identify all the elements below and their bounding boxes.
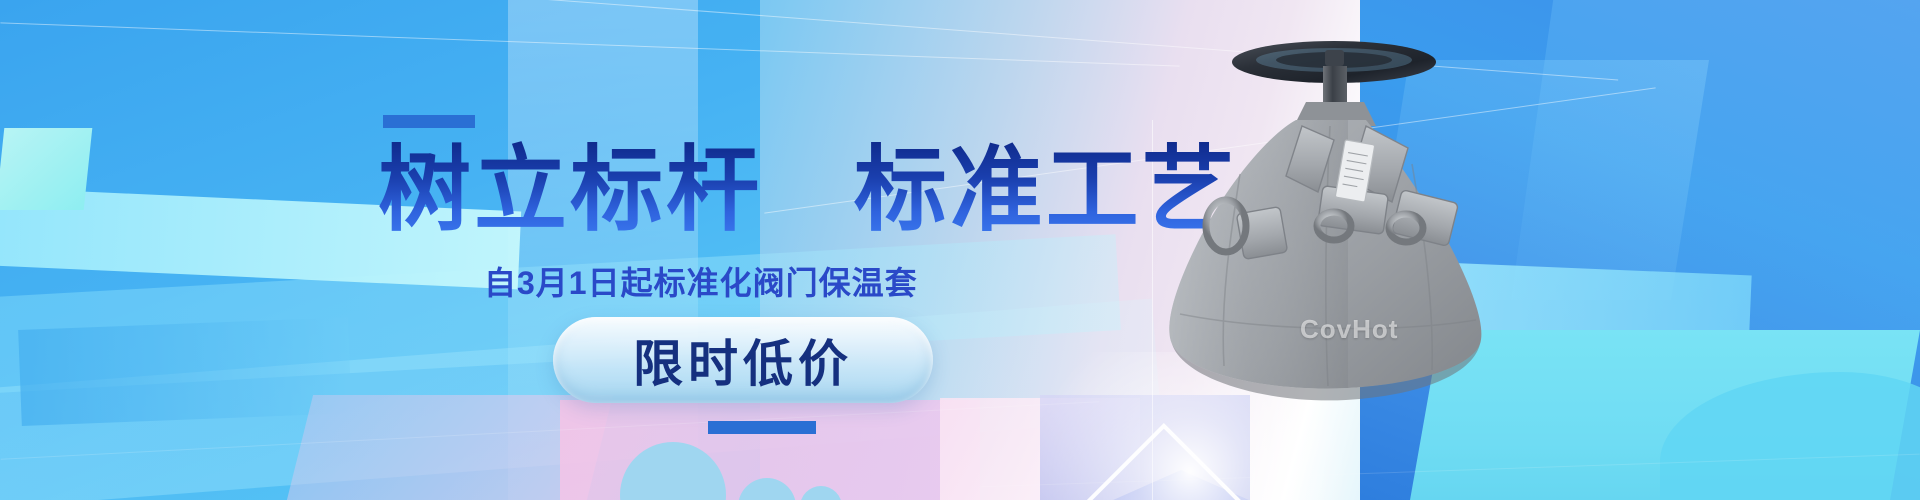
cta-underline-dash	[708, 421, 816, 434]
subtitle: 自3月1日起标准化阀门保温套	[484, 258, 918, 304]
eyebrow-dash	[383, 115, 475, 128]
valve-stem	[1323, 66, 1347, 102]
headline-part-1: 树立标杆	[378, 138, 762, 242]
valve-jacket-illustration	[1120, 14, 1560, 434]
cta-button-label: 限时低价	[633, 324, 853, 396]
promo-banner: 树立标杆 标准工艺 自3月1日起标准化阀门保温套 限时低价	[0, 0, 1920, 500]
product-image: CovHot	[1120, 14, 1560, 434]
headline: 树立标杆 标准工艺	[378, 140, 1238, 240]
cta-button[interactable]: 限时低价	[553, 317, 933, 403]
copy-block: 树立标杆 标准工艺 自3月1日起标准化阀门保温套 限时低价	[0, 0, 1160, 500]
